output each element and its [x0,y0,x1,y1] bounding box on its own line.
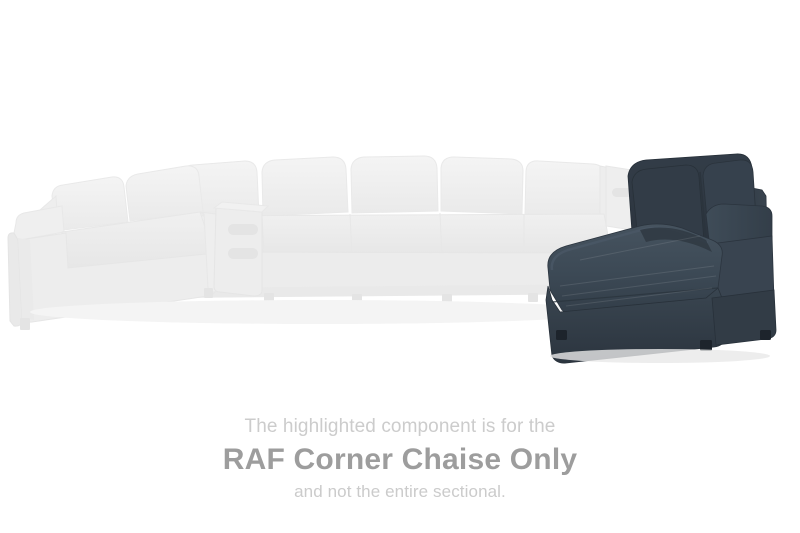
ghost-back-cushion [262,157,348,216]
ghost-back-cushion [441,157,523,214]
ghost-back-cushion [351,156,438,213]
caption-line-top: The highlighted component is for the [0,414,800,440]
ghost-cupholder [228,248,258,259]
caption-line-main: RAF Corner Chaise Only [0,440,800,480]
product-callout: The highlighted component is for the RAF… [0,0,800,533]
chaise-floor-shadow [550,349,770,363]
sectional-diagram [0,0,800,400]
ghost-floor-shadow [30,300,610,324]
callout-caption: The highlighted component is for the RAF… [0,414,800,504]
caption-line-bottom: and not the entire sectional. [0,480,800,504]
sectional-illustration [0,0,800,400]
ghost-sectional [8,156,634,330]
ghost-cupholder [228,224,258,235]
ghost-console [214,202,268,296]
ghost-back-cushion [525,161,604,218]
